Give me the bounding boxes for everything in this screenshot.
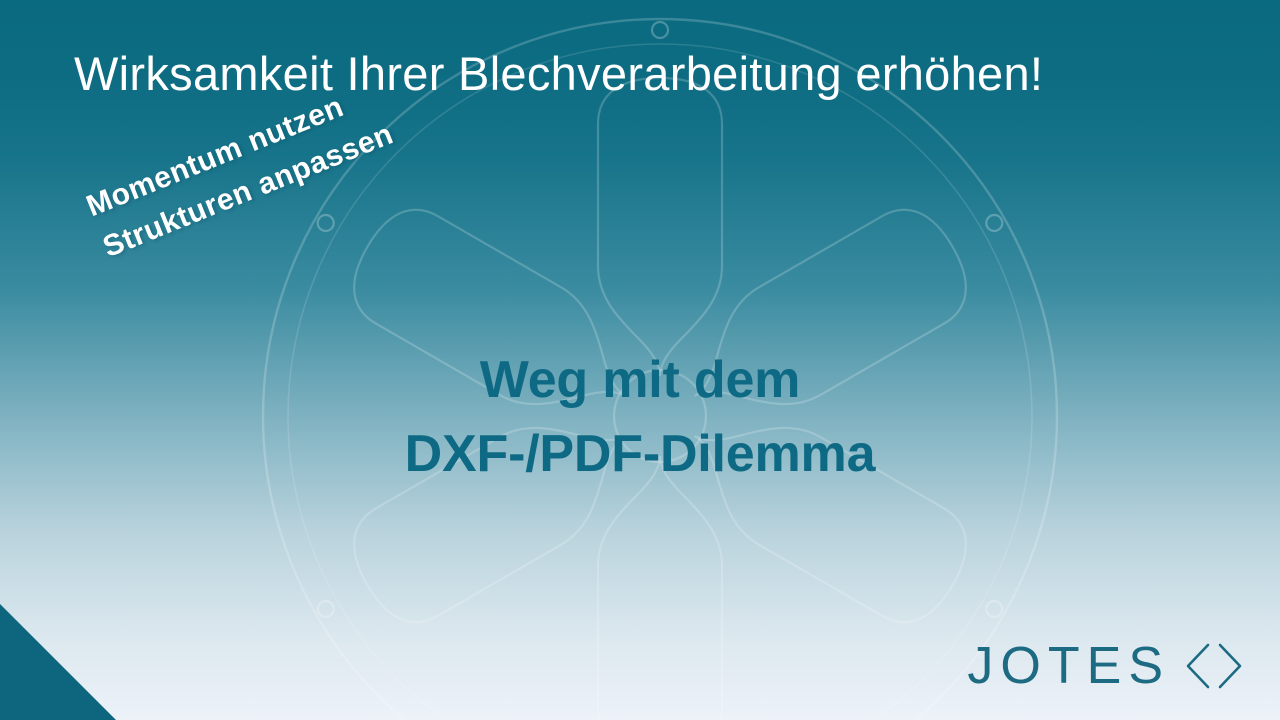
- corner-triangle-decoration: [0, 604, 116, 720]
- chevron-left-icon: [1184, 640, 1212, 692]
- logo-chevron-mark: [1184, 640, 1244, 692]
- center-heading: Weg mit dem DXF-/PDF-Dilemma: [0, 344, 1280, 492]
- center-heading-line-2: DXF-/PDF-Dilemma: [0, 418, 1280, 492]
- jotes-logo: JOTES: [967, 640, 1244, 692]
- chevron-right-icon: [1216, 640, 1244, 692]
- center-heading-line-1: Weg mit dem: [0, 344, 1280, 418]
- slide-canvas: Wirksamkeit Ihrer Blechverarbeitung erhö…: [0, 0, 1280, 720]
- logo-wordmark: JOTES: [967, 640, 1170, 692]
- page-title: Wirksamkeit Ihrer Blechverarbeitung erhö…: [74, 48, 1234, 100]
- tagline-block: Momentum nutzen Strukturen anpassen: [80, 72, 401, 270]
